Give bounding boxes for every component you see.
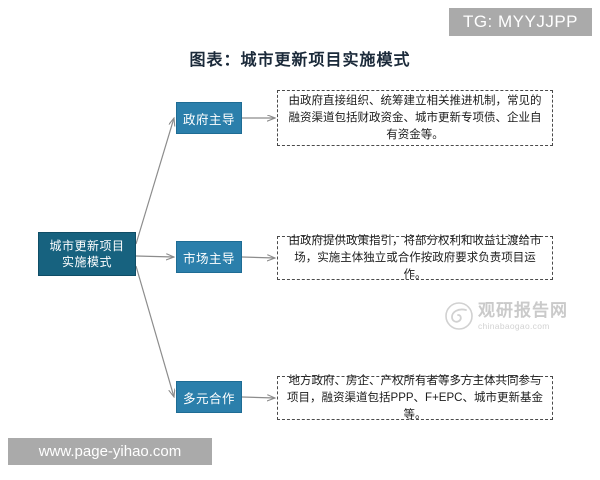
- description-box-government-led: 由政府直接组织、统筹建立相关推进机制，常见的融资渠道包括财政资金、城市更新专项债…: [277, 90, 553, 146]
- branch-node-market-led[interactable]: 市场主导: [176, 241, 242, 273]
- watermark-text: 观研报告网 chinabaogao.com: [478, 302, 568, 331]
- watermark-logo-en: chinabaogao.com: [478, 322, 568, 331]
- description-text: 地方政府、房企、产权所有者等多方主体共同参与项目，融资渠道包括PPP、F+EPC…: [286, 373, 544, 424]
- swirl-icon: [444, 301, 474, 331]
- bottom-url-watermark: www.page-yihao.com: [8, 438, 212, 465]
- chinabaogao-watermark-logo: 观研报告网 chinabaogao.com: [444, 298, 584, 334]
- diagram-canvas: TG: MYYJJPP 图表：城市更新项目实施模式 城市更新项目 实施模式 政府…: [0, 0, 600, 480]
- root-node-label-line1: 城市更新项目: [49, 238, 124, 254]
- root-node-label-line2: 实施模式: [49, 254, 124, 270]
- branch-node-multi-party[interactable]: 多元合作: [176, 381, 242, 413]
- description-text: 由政府提供政策指引，将部分权利和收益让渡给市场，实施主体独立或合作按政府要求负责…: [286, 233, 544, 284]
- description-text: 由政府直接组织、统筹建立相关推进机制，常见的融资渠道包括财政资金、城市更新专项债…: [286, 93, 544, 144]
- description-box-multi-party: 地方政府、房企、产权所有者等多方主体共同参与项目，融资渠道包括PPP、F+EPC…: [277, 376, 553, 420]
- description-box-market-led: 由政府提供政策指引，将部分权利和收益让渡给市场，实施主体独立或合作按政府要求负责…: [277, 236, 553, 280]
- root-node[interactable]: 城市更新项目 实施模式: [38, 232, 136, 276]
- branch-node-government-led[interactable]: 政府主导: [176, 102, 242, 134]
- watermark-logo-cn: 观研报告网: [478, 302, 568, 319]
